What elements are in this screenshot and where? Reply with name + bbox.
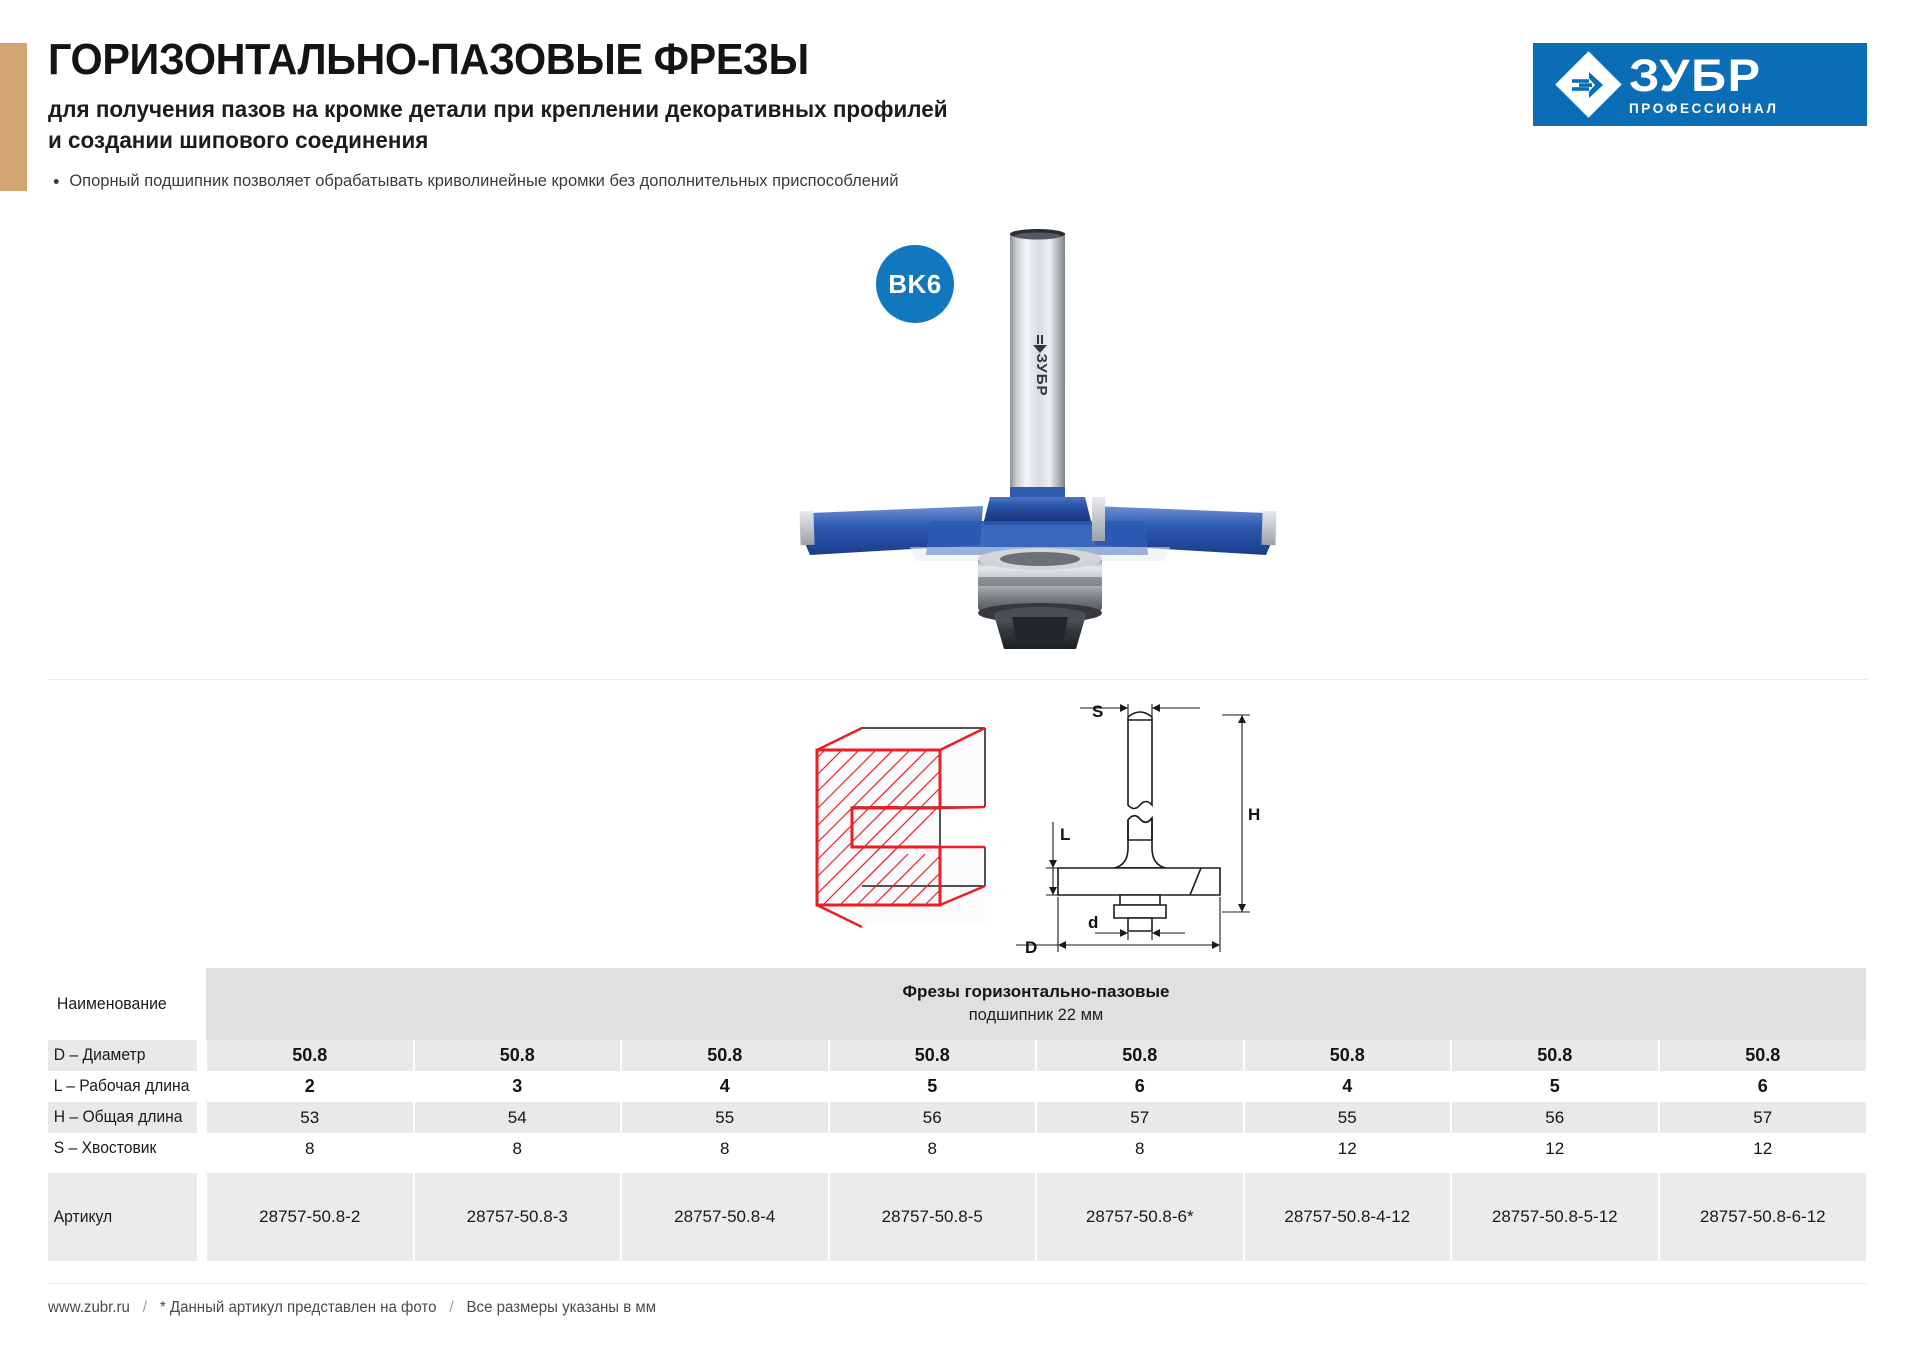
brand-logo: ЗУБР ПРОФЕССИОНАЛ [1533,43,1867,126]
row-label-article: Артикул [48,1173,198,1261]
cell-shank-8: 12 [1659,1133,1867,1164]
row-label-working-length: L – Рабочая длина [48,1071,198,1102]
row-label-diameter: D – Диаметр [48,1040,198,1071]
dim-label-d: d [1088,913,1098,932]
technical-diagram: S H L D d [780,690,1265,965]
cell-working-length-7: 5 [1451,1071,1659,1102]
cell-diameter-7: 50.8 [1451,1040,1659,1071]
dim-label-H: H [1248,805,1260,824]
cell-total-length-1: 53 [206,1102,414,1133]
cell-total-length-6: 55 [1244,1102,1452,1133]
cell-shank-3: 8 [621,1133,829,1164]
table-row-shank: S – Хвостовик 8 8 8 8 8 12 12 12 [48,1133,1866,1164]
cell-shank-6: 12 [1244,1133,1452,1164]
cell-article-4: 28757-50.8-5 [829,1173,1037,1261]
cell-article-8: 28757-50.8-6-12 [1659,1173,1867,1261]
cell-total-length-5: 57 [1036,1102,1244,1133]
cell-total-length-8: 57 [1659,1102,1867,1133]
row-label-shank: S – Хвостовик [48,1133,198,1164]
zubr-diamond-icon [1559,55,1619,115]
accent-bar [0,43,27,191]
cell-working-length-6: 4 [1244,1071,1452,1102]
cell-article-1: 28757-50.8-2 [206,1173,414,1261]
cell-diameter-6: 50.8 [1244,1040,1452,1071]
cell-article-3: 28757-50.8-4 [621,1173,829,1261]
feature-list: Опорный подшипник позволяет обрабатывать… [48,170,1378,192]
cell-working-length-5: 6 [1036,1071,1244,1102]
cell-shank-7: 12 [1451,1133,1659,1164]
cell-working-length-1: 2 [206,1071,414,1102]
subtitle-line-1: для получения пазов на кромке детали при… [48,94,1318,125]
cell-working-length-3: 4 [621,1071,829,1102]
logo-text: ЗУБР ПРОФЕССИОНАЛ [1629,53,1779,116]
cell-article-6: 28757-50.8-4-12 [1244,1173,1452,1261]
page-title: ГОРИЗОНТАЛЬНО-ПАЗОВЫЕ ФРЕЗЫ [48,38,1298,83]
footer-site[interactable]: www.zubr.ru [48,1299,130,1316]
product-photo: ЗУБР [780,225,1300,655]
cell-shank-1: 8 [206,1133,414,1164]
header-group-cell: Фрезы горизонтально-пазовые подшипник 22… [206,968,1866,1040]
bk6-badge: BK6 [876,245,954,323]
svg-text:ЗУБР: ЗУБР [1033,354,1050,397]
cell-article-2: 28757-50.8-3 [414,1173,622,1261]
datasheet-page: ГОРИЗОНТАЛЬНО-ПАЗОВЫЕ ФРЕЗЫ для получени… [0,0,1920,1357]
page-subtitle: для получения пазов на кромке детали при… [48,94,1318,157]
footer-note-photo: * Данный артикул представлен на фото [160,1299,437,1316]
cell-total-length-4: 56 [829,1102,1037,1133]
logo-brand: ЗУБР [1629,53,1791,98]
row-label-total-length: H – Общая длина [48,1102,198,1133]
dim-label-S: S [1092,702,1103,721]
divider-bottom [48,1283,1868,1284]
table-row-working-length: L – Рабочая длина 2 3 4 5 6 4 5 6 [48,1071,1866,1102]
table-row-diameter: D – Диаметр 50.8 50.8 50.8 50.8 50.8 50.… [48,1040,1866,1071]
cell-diameter-1: 50.8 [206,1040,414,1071]
footer-separator-1: / [134,1299,156,1316]
cell-working-length-8: 6 [1659,1071,1867,1102]
footer-separator-2: / [441,1299,463,1316]
table-gap-row [48,1164,1866,1173]
header-name-cell: Наименование [51,968,203,1040]
cell-working-length-4: 5 [829,1071,1037,1102]
table-row-total-length: H – Общая длина 53 54 55 56 57 55 56 57 [48,1102,1866,1133]
cell-total-length-2: 54 [414,1102,622,1133]
cell-total-length-3: 55 [621,1102,829,1133]
dim-label-D: D [1025,938,1037,957]
group-subtitle: подшипник 22 мм [214,1004,1858,1027]
cell-shank-5: 8 [1036,1133,1244,1164]
spec-table: Наименование Фрезы горизонтально-пазовые… [48,968,1866,1261]
group-title: Фрезы горизонтально-пазовые [214,980,1858,1004]
feature-bullet: Опорный подшипник позволяет обрабатывать… [48,170,1338,192]
cell-diameter-8: 50.8 [1659,1040,1867,1071]
subtitle-line-2: и создании шипового соединения [48,125,1318,156]
table-header-row: Наименование Фрезы горизонтально-пазовые… [48,968,1866,1040]
cell-article-7: 28757-50.8-5-12 [1451,1173,1659,1261]
footer-note-units: Все размеры указаны в мм [467,1299,657,1316]
cell-shank-2: 8 [414,1133,622,1164]
cell-article-5: 28757-50.8-6* [1036,1173,1244,1261]
header: ГОРИЗОНТАЛЬНО-ПАЗОВЫЕ ФРЕЗЫ для получени… [48,38,1378,192]
cell-diameter-5: 50.8 [1036,1040,1244,1071]
cell-diameter-3: 50.8 [621,1040,829,1071]
dim-label-L: L [1060,825,1070,844]
cell-total-length-7: 56 [1451,1102,1659,1133]
logo-subbrand: ПРОФЕССИОНАЛ [1629,102,1779,116]
cell-diameter-4: 50.8 [829,1040,1037,1071]
cell-diameter-2: 50.8 [414,1040,622,1071]
divider-top [48,679,1868,680]
footer: www.zubr.ru / * Данный артикул представл… [48,1299,656,1317]
cell-working-length-2: 3 [414,1071,622,1102]
table-row-article: Артикул 28757-50.8-2 28757-50.8-3 28757-… [48,1173,1866,1261]
cell-shank-4: 8 [829,1133,1037,1164]
